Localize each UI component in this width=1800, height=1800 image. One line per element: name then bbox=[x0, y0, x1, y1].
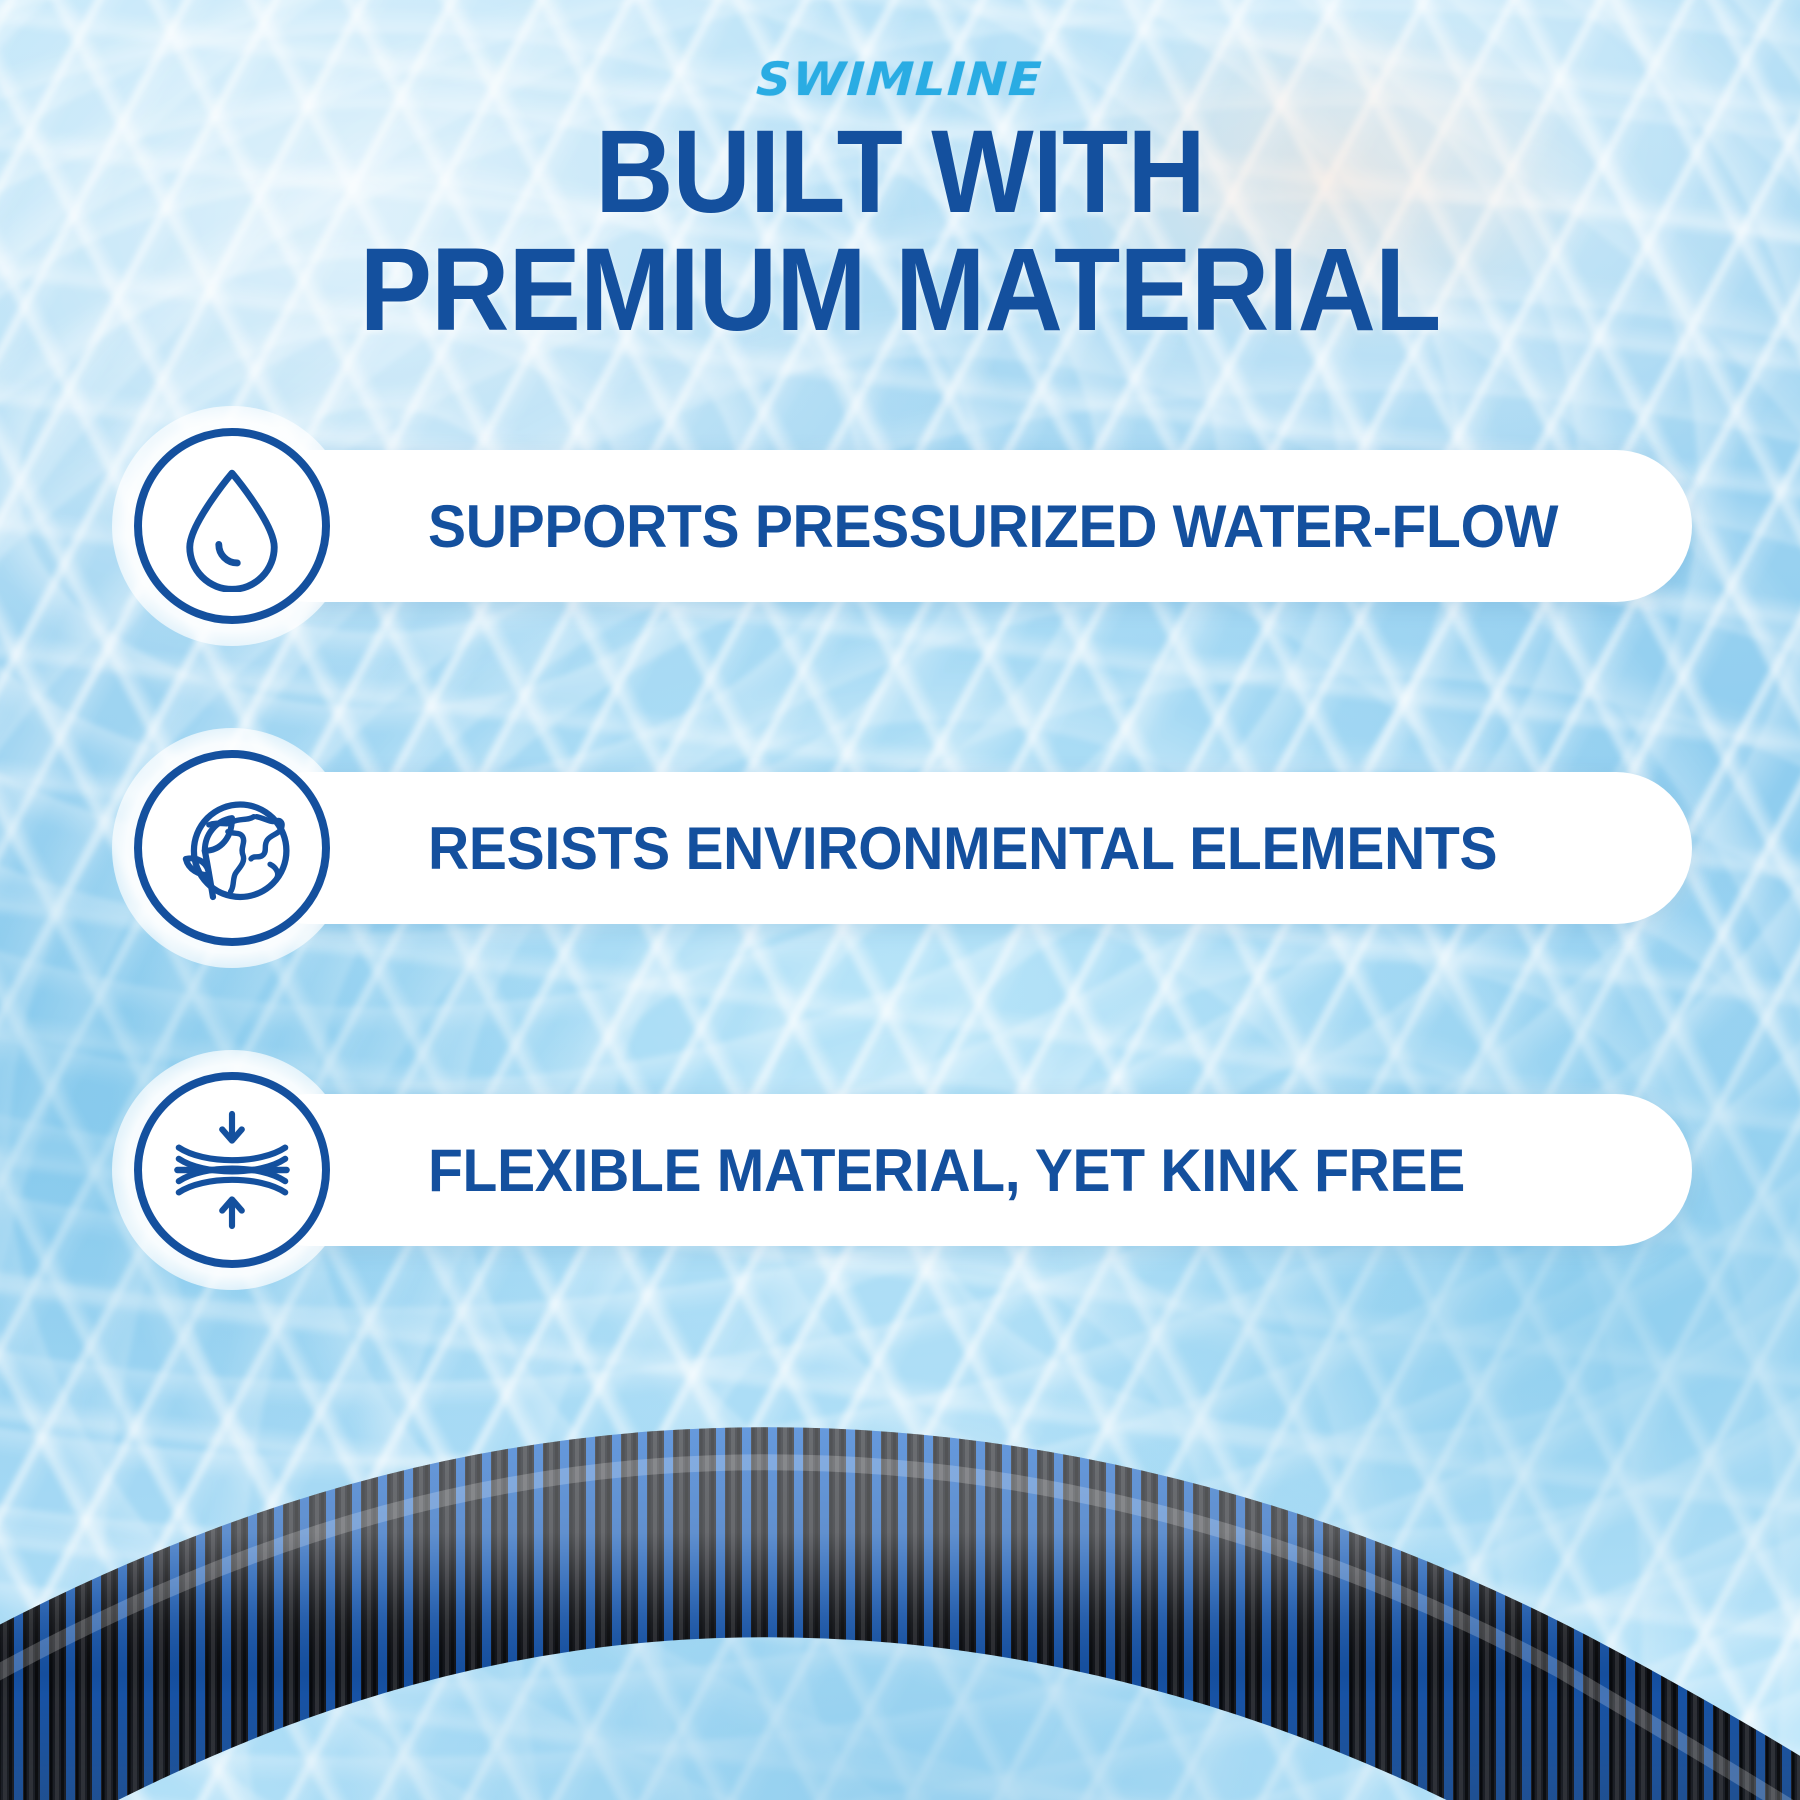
feature-pill: FLEXIBLE MATERIAL, YET KINK FREE bbox=[232, 1094, 1692, 1246]
globe-leaf-icon bbox=[164, 780, 300, 916]
flex-compression-icon bbox=[162, 1100, 302, 1240]
page-title: BUILT WITH PREMIUM MATERIAL bbox=[0, 118, 1800, 345]
page-title-line-1: BUILT WITH bbox=[72, 118, 1728, 228]
feature-icon-circle bbox=[134, 1072, 330, 1268]
feature-label: RESISTS ENVIRONMENTAL ELEMENTS bbox=[428, 814, 1497, 883]
feature-icon-badge bbox=[112, 406, 352, 646]
brand-logo: SWIMLINE bbox=[0, 52, 1800, 106]
brand-logo-text: SWIMLINE bbox=[755, 52, 1044, 106]
feature-pill: RESISTS ENVIRONMENTAL ELEMENTS bbox=[232, 772, 1692, 924]
feature-icon-badge bbox=[112, 1050, 352, 1290]
feature-row: FLEXIBLE MATERIAL, YET KINK FREE bbox=[0, 1044, 1800, 1294]
feature-pill: SUPPORTS PRESSURIZED WATER-FLOW bbox=[232, 450, 1692, 602]
feature-row: RESISTS ENVIRONMENTAL ELEMENTS bbox=[0, 722, 1800, 972]
feature-icon-badge bbox=[112, 728, 352, 968]
page-title-line-2: PREMIUM MATERIAL bbox=[72, 236, 1728, 346]
feature-icon-circle bbox=[134, 750, 330, 946]
infographic-canvas: SWIMLINE BUILT WITH PREMIUM MATERIAL SUP… bbox=[0, 0, 1800, 1800]
water-drop-icon bbox=[166, 460, 298, 592]
feature-row: SUPPORTS PRESSURIZED WATER-FLOW bbox=[0, 400, 1800, 650]
feature-icon-circle bbox=[134, 428, 330, 624]
feature-label: SUPPORTS PRESSURIZED WATER-FLOW bbox=[428, 492, 1558, 561]
feature-list: SUPPORTS PRESSURIZED WATER-FLOW RESISTS … bbox=[0, 400, 1800, 1366]
feature-label: FLEXIBLE MATERIAL, YET KINK FREE bbox=[428, 1136, 1465, 1205]
